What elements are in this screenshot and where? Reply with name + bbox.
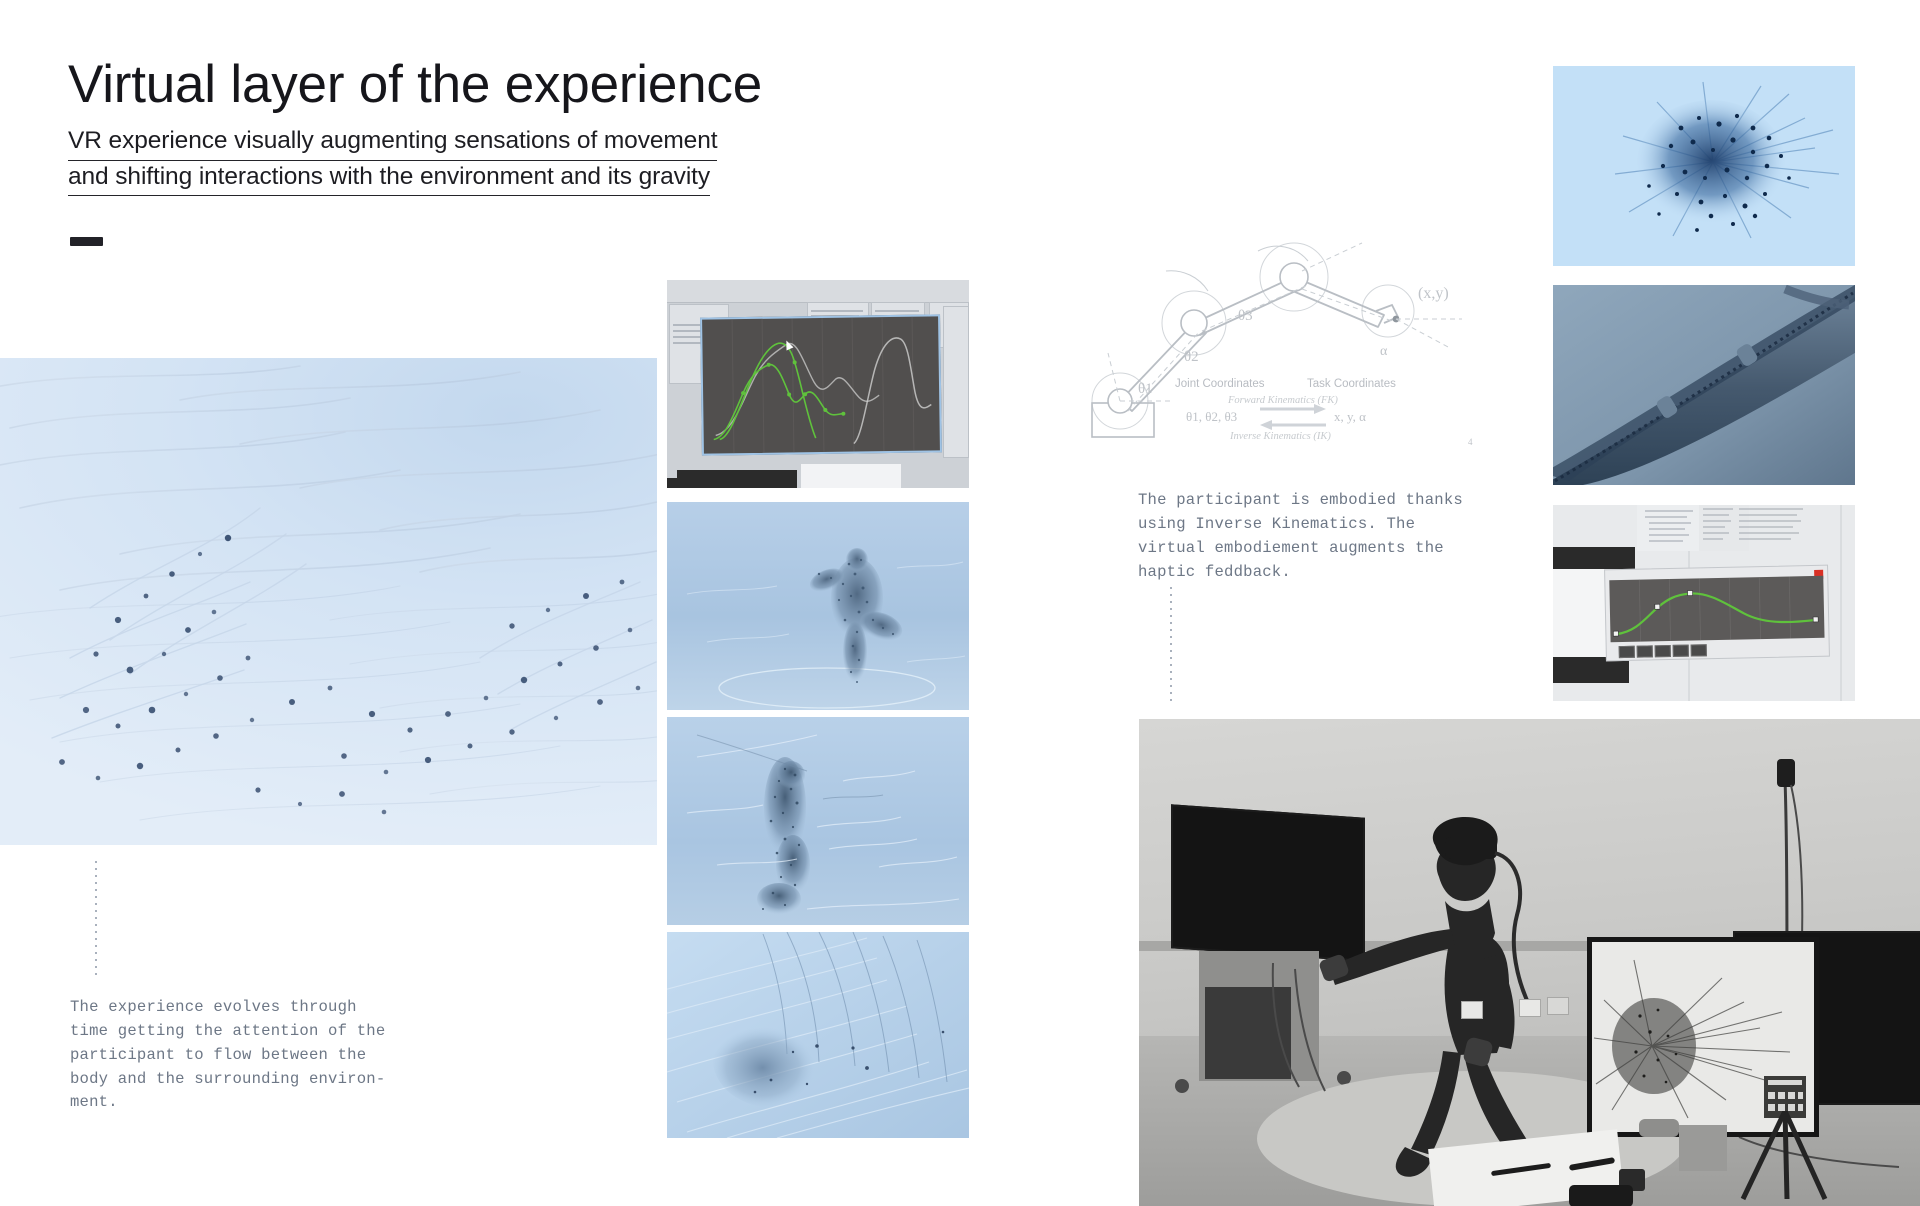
page-subtitle-line-2: and shifting interactions with the envir… bbox=[68, 161, 710, 197]
curve-preset-4-button[interactable] bbox=[1673, 645, 1689, 657]
page-title: Virtual layer of the experience bbox=[68, 57, 762, 113]
lab-artwork-monitor bbox=[1587, 937, 1819, 1137]
left-caption-connector-line bbox=[95, 861, 97, 976]
unity-curve-preset-bar bbox=[1611, 641, 1825, 657]
ik-label-theta2: θ2 bbox=[1184, 349, 1199, 365]
lab-wall-socket-3 bbox=[1547, 997, 1569, 1015]
lab-monitor-artwork bbox=[1592, 942, 1814, 1132]
blue-tube-closeup-image bbox=[1553, 285, 1855, 485]
unity-curve-canvas bbox=[1609, 576, 1824, 642]
ik-page-number: 4 bbox=[1468, 437, 1473, 447]
particle-streaks-svg bbox=[667, 932, 969, 1138]
lab-monitor-artwork-svg bbox=[1592, 942, 1814, 1132]
unity-curve-window bbox=[1604, 565, 1830, 662]
curve-preset-2-button[interactable] bbox=[1637, 645, 1653, 657]
slide-canvas: Virtual layer of the experience VR exper… bbox=[0, 0, 1920, 1206]
lab-speaker-puck bbox=[1639, 1119, 1679, 1137]
curve-preset-5-button[interactable] bbox=[1691, 644, 1707, 656]
particle-field-wide-image bbox=[0, 358, 657, 845]
particle-field-strokes-icon bbox=[0, 358, 657, 845]
particle-burst-svg bbox=[1553, 66, 1855, 266]
ik-label-alpha: α bbox=[1380, 344, 1388, 359]
ik-label-theta3: θ3 bbox=[1238, 308, 1253, 324]
lab-phone bbox=[1569, 1185, 1633, 1206]
ik-label-inverse-kinematics: Inverse Kinematics (IK) bbox=[1229, 431, 1331, 442]
unity-animation-curve-screenshot-image bbox=[667, 280, 969, 488]
unity-panel-right bbox=[943, 306, 969, 458]
ik-label-joint-vars: θ1, θ2, θ3 bbox=[1186, 409, 1237, 424]
ik-label-joint-coordinates: Joint Coordinates bbox=[1175, 378, 1265, 390]
particle-figure-arms-out-image bbox=[667, 502, 969, 710]
forward-inverse-kinematics-diagram: θ1 θ2 θ3 α (x,y) Joint Coordinates Task … bbox=[1062, 215, 1482, 450]
unity-curve-svg bbox=[1609, 576, 1824, 642]
unity-toolbar bbox=[667, 280, 969, 303]
page-subtitle-line-1: VR experience visually augmenting sensat… bbox=[68, 125, 717, 161]
particle-figure-dissolving-image bbox=[667, 717, 969, 925]
particle-burst-render-image bbox=[1553, 66, 1855, 266]
curve-preset-1-button[interactable] bbox=[1619, 646, 1635, 658]
vr-lab-session-photo-image bbox=[1139, 719, 1920, 1206]
left-caption-text: The experience evolves through time gett… bbox=[70, 996, 470, 1115]
lab-monitor-base bbox=[1679, 1125, 1727, 1171]
lab-wall-socket-2 bbox=[1519, 999, 1541, 1017]
ik-arm-links-icon bbox=[1120, 277, 1384, 411]
ik-label-task-coordinates: Task Coordinates bbox=[1307, 378, 1396, 390]
curve-preset-3-button[interactable] bbox=[1655, 645, 1671, 657]
lab-tracker-camera bbox=[1777, 759, 1795, 787]
lab-wall-socket-1 bbox=[1461, 1001, 1483, 1019]
unity-curve-editor-popup-image bbox=[1553, 505, 1855, 701]
particle-figure-2-svg bbox=[667, 717, 969, 925]
unity-curve-graph bbox=[700, 314, 942, 455]
ik-arrow-inverse-icon bbox=[1260, 420, 1326, 430]
right-caption-connector-line bbox=[1170, 587, 1172, 702]
ik-label-theta1: θ1 bbox=[1138, 381, 1153, 397]
unity-curve-graph-svg bbox=[702, 316, 940, 453]
section-rule-mark bbox=[70, 237, 103, 246]
particle-figure-1-svg bbox=[667, 502, 969, 710]
particle-streaks-closeup-image bbox=[667, 932, 969, 1138]
lab-tripod-icon bbox=[1725, 1111, 1905, 1206]
page-subtitle: VR experience visually augmenting sensat… bbox=[68, 125, 717, 196]
right-caption-text: The participant is embodied thanks using… bbox=[1138, 489, 1538, 584]
unity-editor-shell bbox=[667, 280, 969, 488]
ik-label-forward-kinematics: Forward Kinematics (FK) bbox=[1227, 395, 1338, 406]
ik-label-task-vars: x, y, α bbox=[1334, 409, 1366, 424]
blue-tube-svg bbox=[1553, 285, 1855, 485]
ik-label-endpoint: (x,y) bbox=[1418, 285, 1449, 302]
